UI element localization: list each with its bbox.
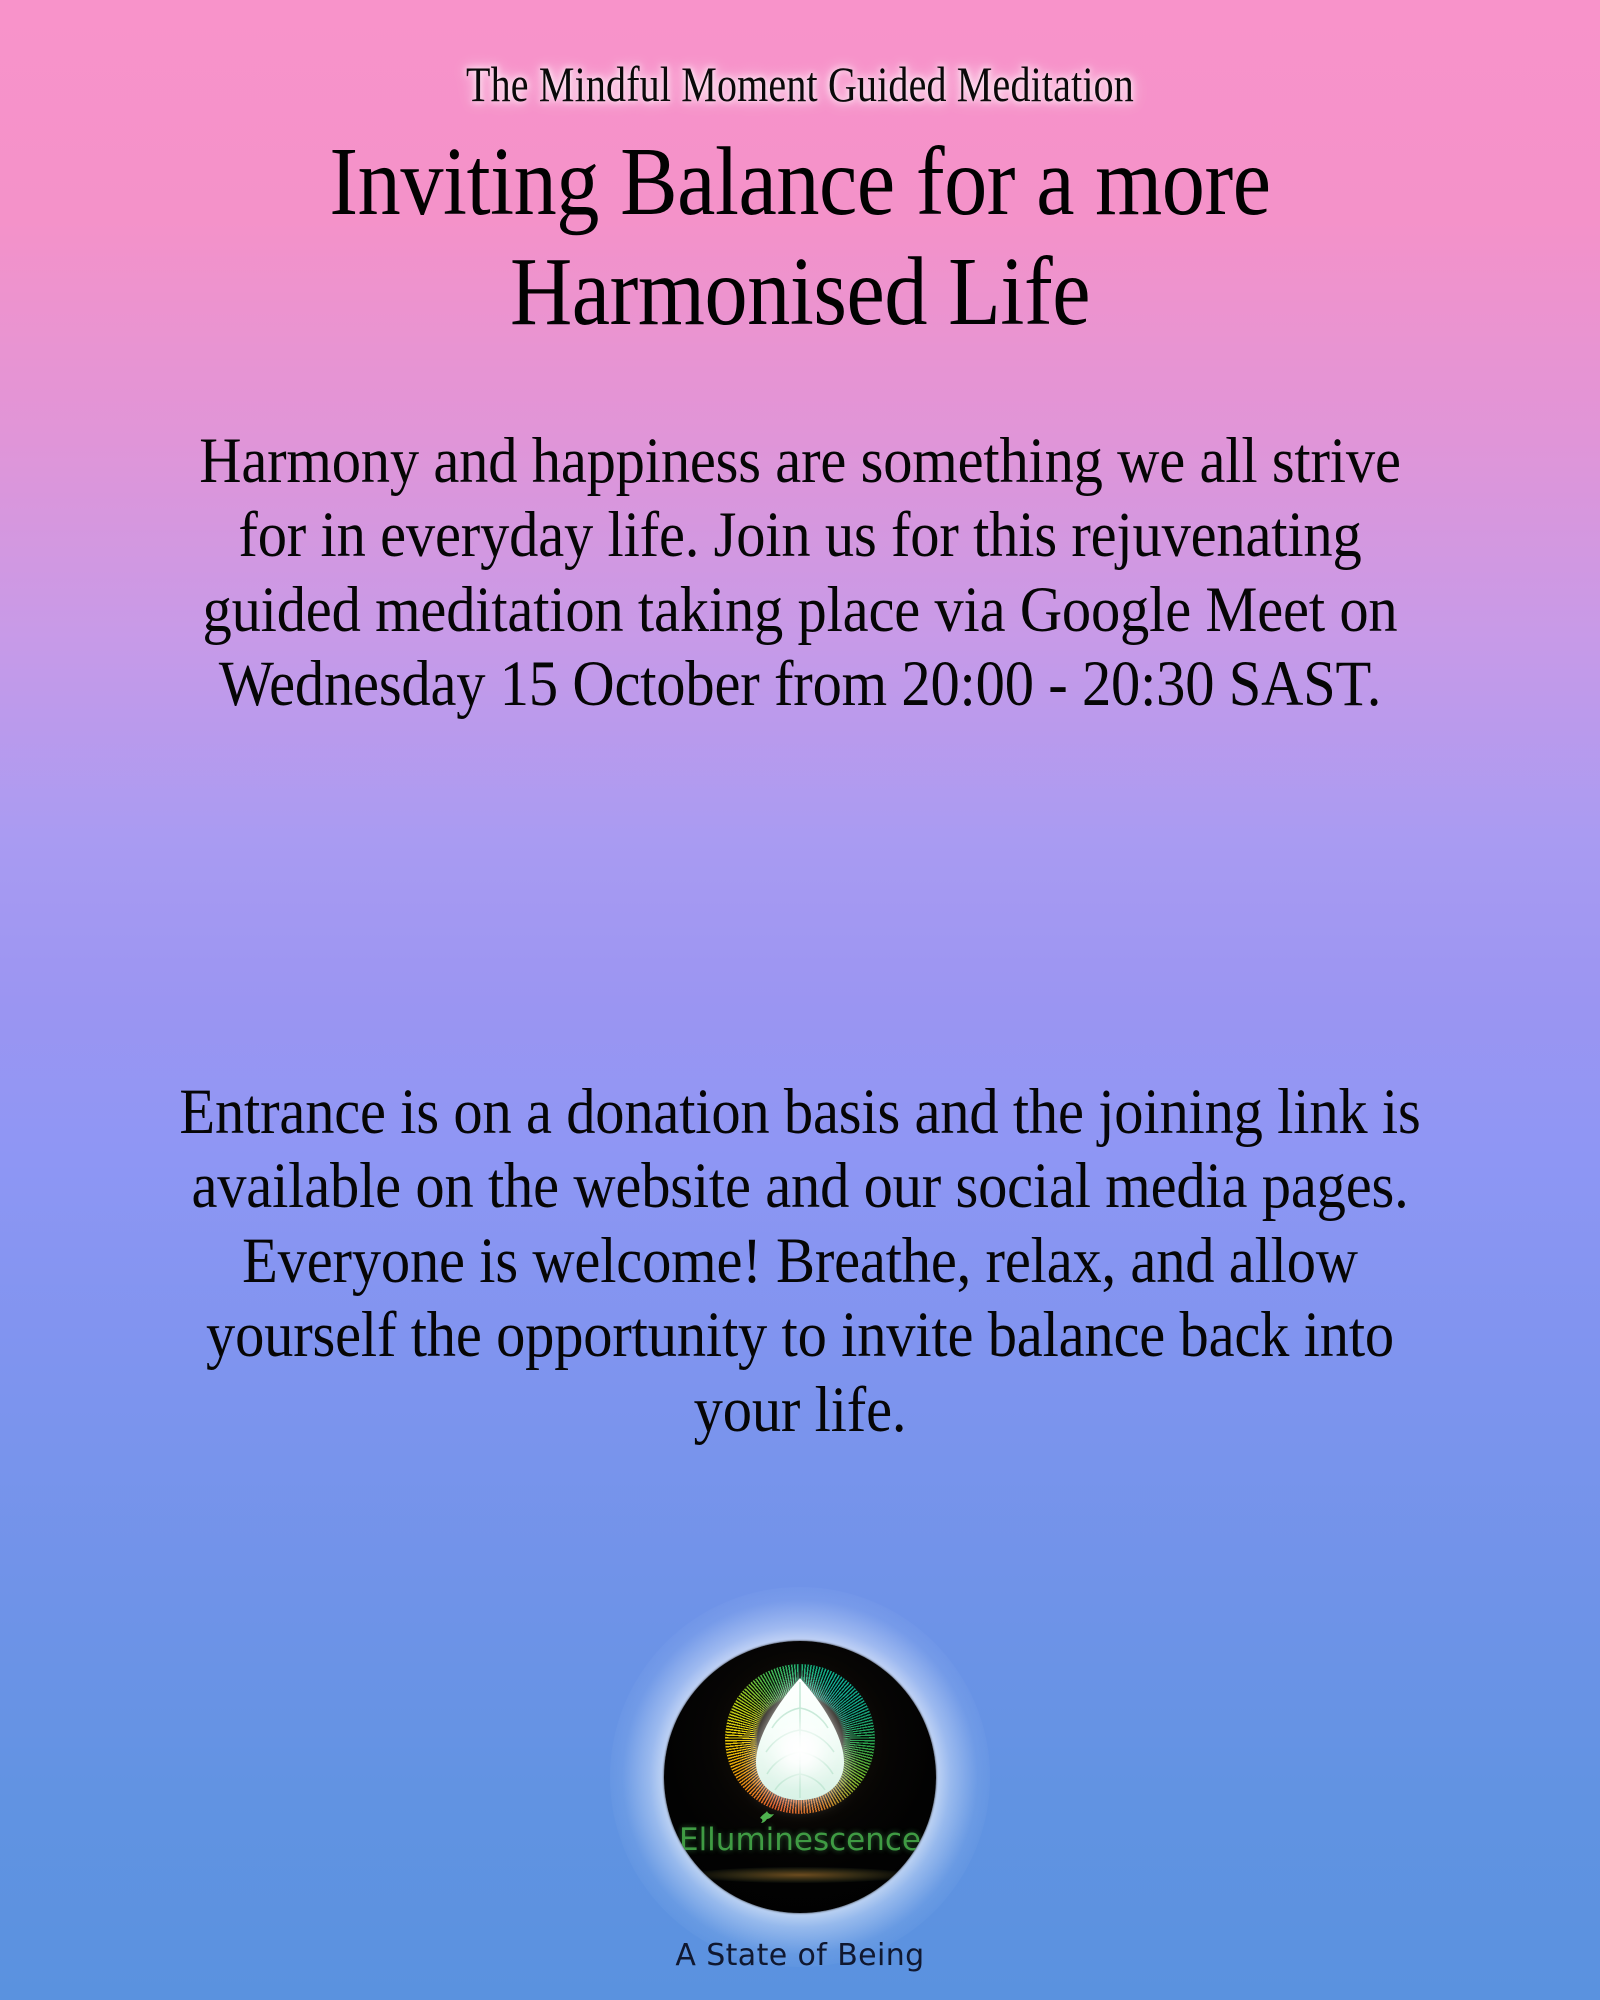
poster-paragraph-1: Harmony and happiness are something we a… [170, 424, 1430, 722]
paragraph-2-text: Entrance is on a donation basis and the … [170, 1075, 1430, 1447]
paragraph-1-text: Harmony and happiness are something we a… [170, 424, 1430, 722]
brand-tagline: A State of Being [0, 1938, 1600, 1973]
logo-base-glow [691, 1867, 909, 1883]
poster-kicker: The Mindful Moment Guided Meditation [160, 58, 1440, 111]
poster-paragraph-2: Entrance is on a donation basis and the … [170, 1075, 1430, 1447]
logo-disc: Elluminescence [664, 1641, 936, 1913]
brand-logo: Elluminescence [590, 1632, 1010, 1922]
page-title: Inviting Balance for a more Harmonised L… [210, 128, 1389, 348]
leaf-icon [744, 1674, 856, 1804]
poster-canvas: The Mindful Moment Guided Meditation Inv… [0, 0, 1600, 2000]
brand-name-text: Elluminescence [664, 1822, 936, 1858]
